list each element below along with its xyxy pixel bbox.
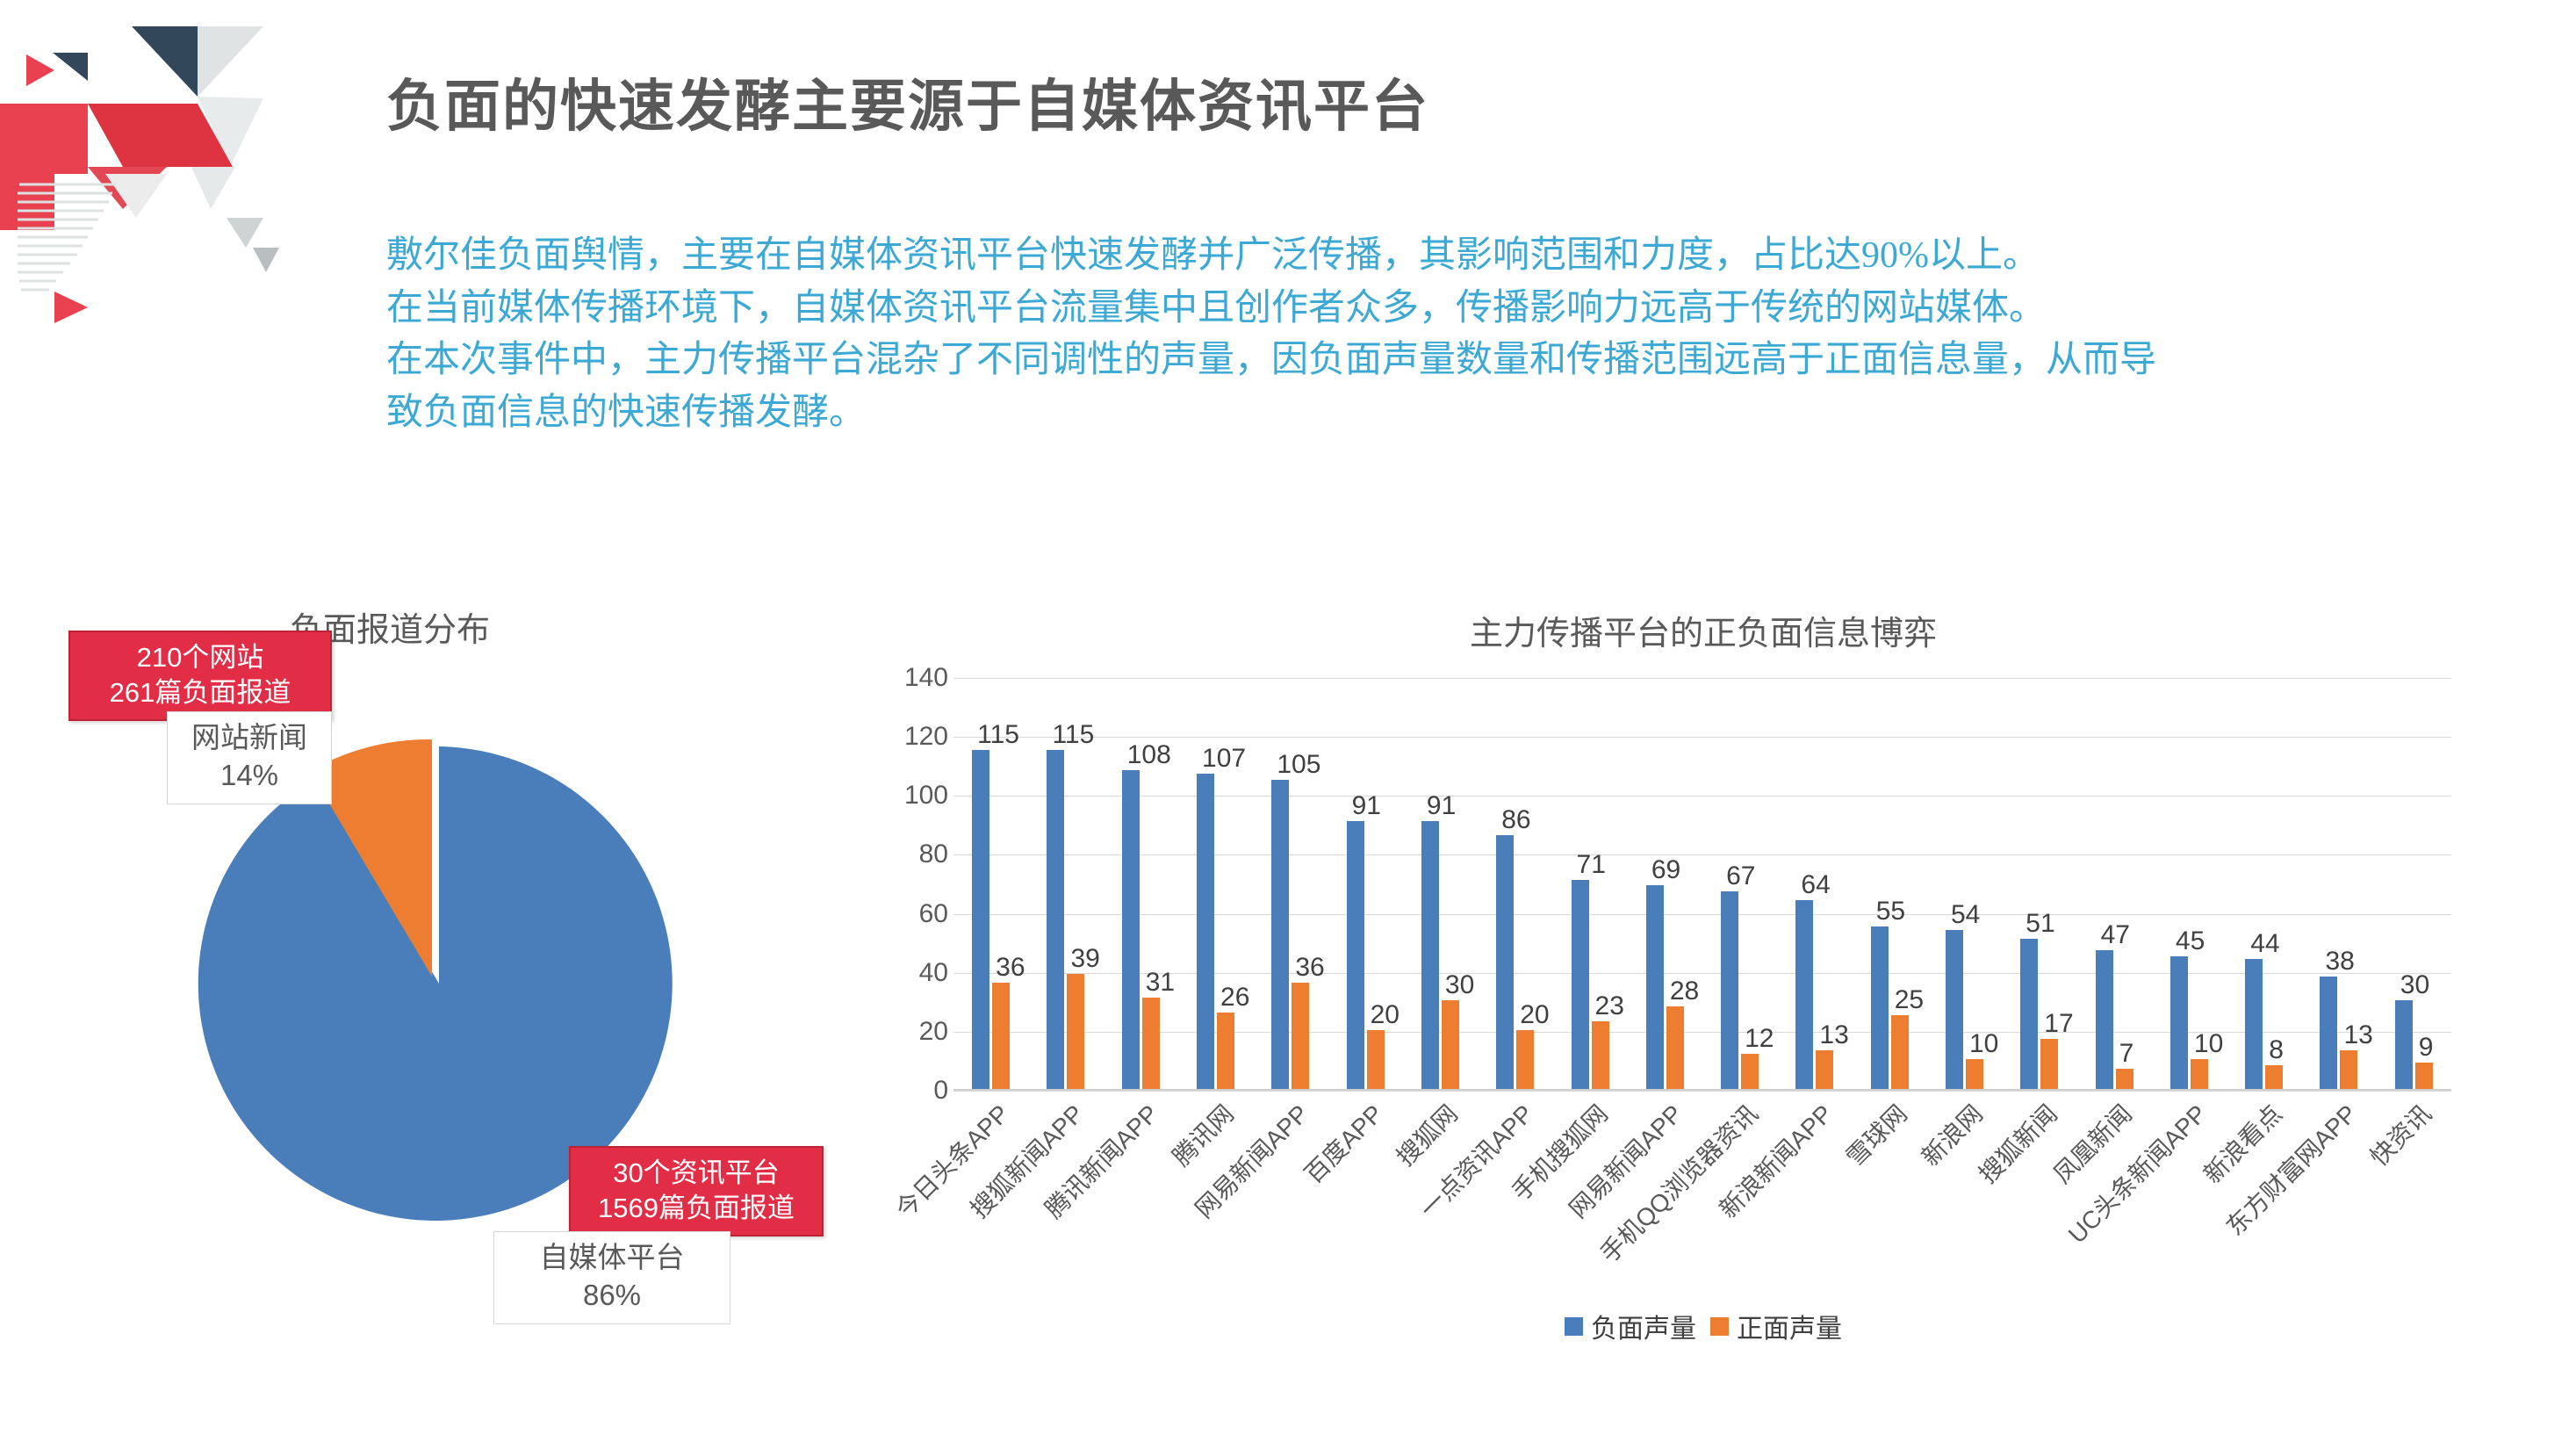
- x-axis-tick: 百度APP: [1328, 1091, 1402, 1310]
- bar-group[interactable]: 5525: [1853, 678, 1927, 1089]
- bar-value-label: 54: [1951, 900, 1980, 930]
- pie-label-selfmedia-name: 自媒体平台: [507, 1239, 717, 1277]
- legend-label-positive: 正面声量: [1737, 1307, 1842, 1345]
- bar-negative[interactable]: 54: [1946, 930, 1963, 1089]
- x-axis-tick: 新浪新闻APP: [1777, 1091, 1852, 1310]
- callout-website-line1: 210个网站: [83, 640, 318, 675]
- bar-positive[interactable]: 31: [1142, 998, 1160, 1089]
- bar-chart-plot-area: 020406080100120140 115361153910831107261…: [878, 678, 2529, 1091]
- bar-positive[interactable]: 17: [2040, 1039, 2058, 1089]
- bar-value-label: 38: [2325, 947, 2354, 977]
- bar-value-label: 30: [2400, 970, 2429, 1000]
- bar-negative[interactable]: 71: [1572, 880, 1589, 1089]
- bar-value-label: 8: [2269, 1035, 2284, 1065]
- bar-group[interactable]: 6413: [1777, 678, 1852, 1089]
- bar-group[interactable]: 5117: [2002, 678, 2076, 1089]
- y-axis-tick-label: 140: [843, 663, 948, 693]
- callout-selfmedia-line1: 30个资讯平台: [583, 1156, 809, 1191]
- bar-positive[interactable]: 9: [2415, 1063, 2433, 1089]
- bar-group[interactable]: 10536: [1253, 678, 1328, 1089]
- bar-group[interactable]: 11536: [953, 678, 1028, 1089]
- bar-negative[interactable]: 67: [1721, 891, 1738, 1089]
- bar-positive[interactable]: 12: [1741, 1054, 1759, 1089]
- bar-value-label: 30: [1445, 970, 1474, 1000]
- body-line-2: 在当前媒体传播环境下，自媒体资讯平台流量集中且创作者众多，传播影响力远高于传统的…: [386, 283, 2511, 335]
- legend-label-negative: 负面声量: [1591, 1307, 1696, 1345]
- bar-columns: 1153611539108311072610536912091308620712…: [953, 678, 2451, 1089]
- x-axis-tick: 网易新闻APP: [1253, 1091, 1328, 1310]
- bar-group[interactable]: 448: [2227, 678, 2301, 1089]
- bar-value-label: 45: [2176, 926, 2205, 956]
- legend-swatch-positive-icon: [1710, 1317, 1729, 1336]
- bar-value-label: 13: [1819, 1020, 1848, 1050]
- bar-positive[interactable]: 30: [1442, 1000, 1459, 1089]
- bar-value-label: 69: [1651, 855, 1680, 885]
- bar-value-label: 10: [1969, 1029, 1998, 1059]
- bar-group[interactable]: 8620: [1478, 678, 1552, 1089]
- bar-negative[interactable]: 105: [1271, 780, 1289, 1090]
- bar-negative[interactable]: 30: [2395, 1000, 2413, 1089]
- bar-group[interactable]: 10726: [1178, 678, 1253, 1089]
- bar-value-label: 91: [1352, 791, 1381, 821]
- bar-group[interactable]: 7123: [1552, 678, 1627, 1089]
- y-axis-tick-label: 120: [843, 722, 948, 752]
- pie-chart-title: 负面报道分布: [290, 602, 623, 651]
- x-axis-tick: 一点资讯APP: [1478, 1091, 1552, 1310]
- body-line-1: 敷尔佳负面舆情，主要在自媒体资讯平台快速发酵并广泛传播，其影响范围和力度，占比达…: [386, 230, 2511, 283]
- bar-positive[interactable]: 10: [2191, 1059, 2208, 1089]
- bar-positive[interactable]: 13: [1816, 1050, 1833, 1089]
- bar-value-label: 31: [1146, 968, 1175, 998]
- bar-value-label: 44: [2250, 929, 2279, 959]
- x-axis-tick: 快资讯: [2377, 1091, 2451, 1310]
- bar-value-label: 67: [1726, 861, 1755, 891]
- bar-value-label: 39: [1070, 944, 1099, 974]
- legend-item-negative[interactable]: 负面声量: [1565, 1307, 1696, 1345]
- bar-chart-title: 主力传播平台的正负面信息博弈: [878, 606, 2529, 654]
- bar-positive[interactable]: 10: [1966, 1059, 1983, 1089]
- bar-positive[interactable]: 20: [1367, 1030, 1385, 1089]
- bar-group[interactable]: 10831: [1104, 678, 1178, 1089]
- bar-value-label: 28: [1670, 977, 1699, 1006]
- bar-group[interactable]: 309: [2377, 678, 2451, 1089]
- bar-group[interactable]: 4510: [2152, 678, 2227, 1089]
- pie-label-website: 网站新闻 14%: [167, 711, 332, 804]
- bar-positive[interactable]: 7: [2116, 1069, 2133, 1090]
- bar-group[interactable]: 9130: [1403, 678, 1478, 1089]
- bar-value-label: 10: [2194, 1029, 2223, 1059]
- bar-positive[interactable]: 8: [2265, 1065, 2283, 1089]
- bar-negative[interactable]: 47: [2096, 950, 2113, 1089]
- callout-website-line2: 261篇负面报道: [83, 675, 318, 710]
- bar-value-label: 20: [1371, 1000, 1400, 1030]
- bar-negative[interactable]: 55: [1871, 926, 1889, 1089]
- y-axis-tick-label: 40: [843, 958, 948, 988]
- y-axis-tick-label: 80: [843, 840, 948, 869]
- bar-positive[interactable]: 36: [1292, 983, 1309, 1089]
- bar-value-label: 105: [1277, 750, 1320, 780]
- y-axis-tick-label: 0: [843, 1076, 948, 1106]
- bar-value-label: 13: [2343, 1020, 2372, 1050]
- bar-value-label: 26: [1220, 983, 1249, 1013]
- callout-selfmedia-badge: 30个资讯平台 1569篇负面报道: [569, 1146, 824, 1236]
- bar-positive[interactable]: 39: [1067, 974, 1084, 1089]
- bar-group[interactable]: 6712: [1702, 678, 1777, 1089]
- bar-value-label: 36: [996, 953, 1025, 983]
- bar-chart-panel: 主力传播平台的正负面信息博弈 020406080100120140 115361…: [878, 606, 2529, 1361]
- bar-value-label: 17: [2044, 1009, 2073, 1039]
- bar-group[interactable]: 5410: [1927, 678, 2002, 1089]
- pie-label-selfmedia: 自媒体平台 86%: [493, 1231, 730, 1324]
- bar-value-label: 12: [1745, 1024, 1774, 1054]
- pie-label-website-name: 网站新闻: [180, 719, 319, 757]
- bar-group[interactable]: 477: [2076, 678, 2151, 1089]
- bar-positive[interactable]: 36: [992, 983, 1010, 1089]
- bar-negative[interactable]: 51: [2020, 939, 2038, 1089]
- bar-positive[interactable]: 28: [1666, 1006, 1684, 1089]
- x-axis-labels: 今日头条APP搜狐新闻APP腾讯新闻APP腾讯网网易新闻APP百度APP搜狐网一…: [953, 1091, 2451, 1310]
- bar-positive[interactable]: 13: [2340, 1050, 2357, 1089]
- bar-value-label: 51: [2026, 909, 2054, 939]
- bar-value-label: 108: [1127, 740, 1171, 770]
- bar-negative[interactable]: 115: [972, 750, 989, 1089]
- x-axis-tick: 雪球网: [1853, 1091, 1927, 1310]
- bar-value-label: 91: [1427, 791, 1456, 821]
- bar-positive[interactable]: 23: [1592, 1021, 1609, 1089]
- y-axis-tick-label: 100: [843, 781, 948, 811]
- bar-value-label: 23: [1595, 991, 1624, 1021]
- pie-label-website-value: 14%: [180, 757, 319, 795]
- pie-label-selfmedia-value: 86%: [507, 1277, 717, 1315]
- legend-swatch-negative-icon: [1565, 1317, 1583, 1336]
- bar-value-label: 64: [1801, 870, 1830, 900]
- bar-positive[interactable]: 20: [1516, 1030, 1534, 1089]
- bar-negative[interactable]: 115: [1047, 750, 1064, 1089]
- bar-positive[interactable]: 25: [1891, 1015, 1909, 1089]
- page-title: 负面的快速发酵主要源于自媒体资讯平台: [386, 61, 1429, 142]
- bar-value-label: 86: [1501, 805, 1530, 835]
- x-axis-tick: 东方财富网APP: [2301, 1091, 2376, 1310]
- pie-chart-panel: 负面报道分布 210个网站 261篇负面报道 网站新闻 14% 30个资讯平台 …: [0, 597, 825, 1370]
- bar-value-label: 71: [1577, 850, 1606, 880]
- bar-negative[interactable]: 44: [2245, 959, 2263, 1089]
- bar-value-label: 9: [2419, 1033, 2434, 1063]
- bar-group[interactable]: 11539: [1028, 678, 1103, 1089]
- x-axis-tick: UC头条新闻APP: [2152, 1091, 2227, 1310]
- bar-negative[interactable]: 38: [2320, 977, 2337, 1089]
- bar-value-label: 47: [2101, 920, 2130, 950]
- bar-negative[interactable]: 107: [1197, 774, 1214, 1089]
- legend-item-positive[interactable]: 正面声量: [1710, 1307, 1842, 1345]
- bar-group[interactable]: 9120: [1328, 678, 1402, 1089]
- bar-negative[interactable]: 86: [1496, 835, 1514, 1089]
- callout-selfmedia-line2: 1569篇负面报道: [583, 1191, 809, 1226]
- y-axis-tick-label: 20: [843, 1017, 948, 1047]
- callout-website-badge: 210个网站 261篇负面报道: [68, 631, 332, 721]
- bar-value-label: 107: [1202, 744, 1246, 774]
- bar-negative[interactable]: 91: [1421, 821, 1439, 1090]
- bar-positive[interactable]: 26: [1217, 1013, 1234, 1089]
- bar-value-label: 115: [1052, 720, 1094, 750]
- bar-negative[interactable]: 108: [1122, 770, 1140, 1089]
- bar-value-label: 20: [1520, 1000, 1549, 1030]
- body-line-4: 致负面信息的快速传播发酵。: [386, 387, 2511, 440]
- bar-value-label: 25: [1895, 985, 1924, 1015]
- x-axis-tick: 新浪网: [1927, 1091, 2002, 1310]
- bar-value-label: 7: [2119, 1039, 2134, 1069]
- x-axis-tick: 腾讯新闻APP: [1104, 1091, 1178, 1310]
- bar-negative[interactable]: 45: [2170, 956, 2188, 1089]
- bar-value-label: 36: [1295, 953, 1324, 983]
- decorative-logo: [0, 0, 351, 351]
- bar-chart-legend: 负面声量 正面声量: [878, 1307, 2529, 1345]
- bar-negative[interactable]: 91: [1347, 821, 1364, 1090]
- x-axis-tick: 搜狐新闻: [2002, 1091, 2076, 1310]
- bar-group[interactable]: 3813: [2301, 678, 2376, 1089]
- body-line-3: 在本次事件中，主力传播平台混杂了不同调性的声量，因负面声量数量和传播范围远高于正…: [386, 335, 2511, 387]
- bar-value-label: 115: [977, 720, 1019, 750]
- body-paragraph: 敷尔佳负面舆情，主要在自媒体资讯平台快速发酵并广泛传播，其影响范围和力度，占比达…: [386, 230, 2511, 440]
- y-axis-tick-label: 60: [843, 899, 948, 929]
- bar-value-label: 55: [1876, 897, 1905, 926]
- bar-negative[interactable]: 64: [1795, 900, 1813, 1089]
- bar-negative[interactable]: 69: [1646, 885, 1664, 1089]
- bar-group[interactable]: 6928: [1628, 678, 1702, 1089]
